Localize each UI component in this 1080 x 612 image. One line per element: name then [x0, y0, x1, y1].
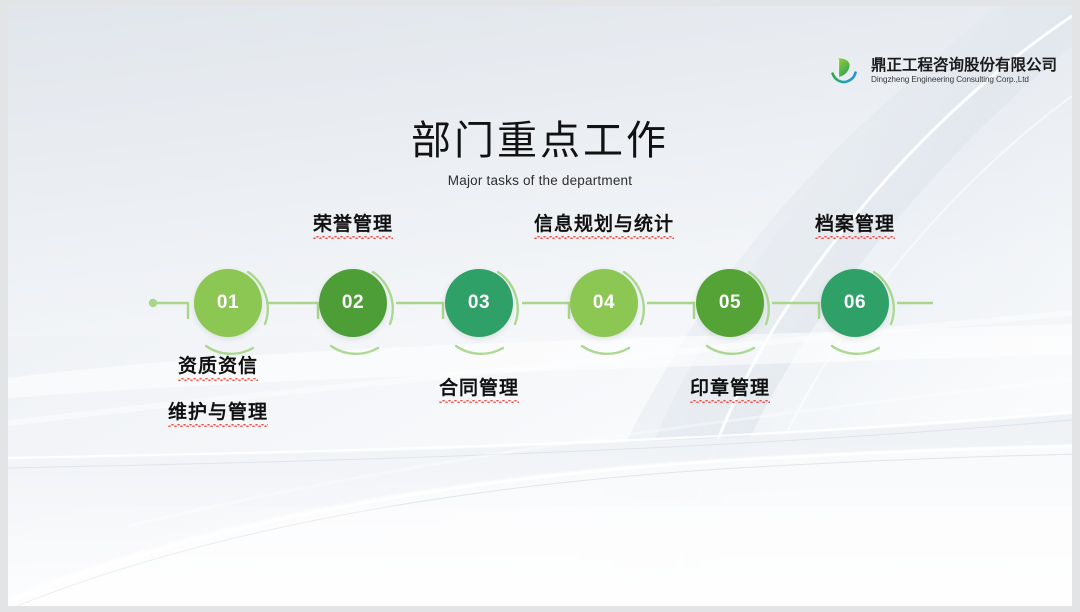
timeline-label-05-line1: 印章管理	[690, 373, 770, 403]
timeline-node-03[interactable]: 03	[445, 269, 513, 337]
timeline-label-06-line1: 档案管理	[815, 209, 895, 239]
timeline-node-05-number: 05	[719, 292, 741, 314]
timeline-node-06[interactable]: 06	[821, 269, 889, 337]
timeline-label-01-line2: 维护与管理	[168, 397, 268, 427]
timeline-node-04-number: 04	[593, 292, 615, 314]
timeline-label-05: 印章管理	[580, 373, 880, 403]
timeline-node-06-number: 06	[844, 292, 866, 314]
timeline-node-02[interactable]: 02	[319, 269, 387, 337]
timeline-connectors	[8, 6, 1072, 606]
timeline-label-06: 档案管理	[705, 209, 1005, 239]
timeline-node-01[interactable]: 01	[194, 269, 262, 337]
timeline-label-02-line1: 荣誉管理	[313, 209, 393, 239]
timeline-label-03-line1: 合同管理	[439, 373, 519, 403]
timeline-label-01: 资质资信 维护与管理	[68, 351, 368, 427]
timeline-node-05[interactable]: 05	[696, 269, 764, 337]
timeline-label-01-line1: 资质资信	[178, 351, 258, 381]
timeline-node-03-number: 03	[468, 292, 490, 314]
timeline-node-01-number: 01	[217, 292, 239, 314]
timeline-node-02-number: 02	[342, 292, 364, 314]
presentation-slide: 鼎正工程咨询股份有限公司 Dingzheng Engineering Consu…	[8, 6, 1072, 606]
timeline-start-dot	[149, 299, 157, 307]
timeline-diagram: 01 02 03 04 05 06 资质资信 维护与管理 荣誉管理 合同管理	[8, 6, 1072, 606]
timeline-node-04[interactable]: 04	[570, 269, 638, 337]
timeline-label-04-line1: 信息规划与统计	[534, 209, 674, 239]
